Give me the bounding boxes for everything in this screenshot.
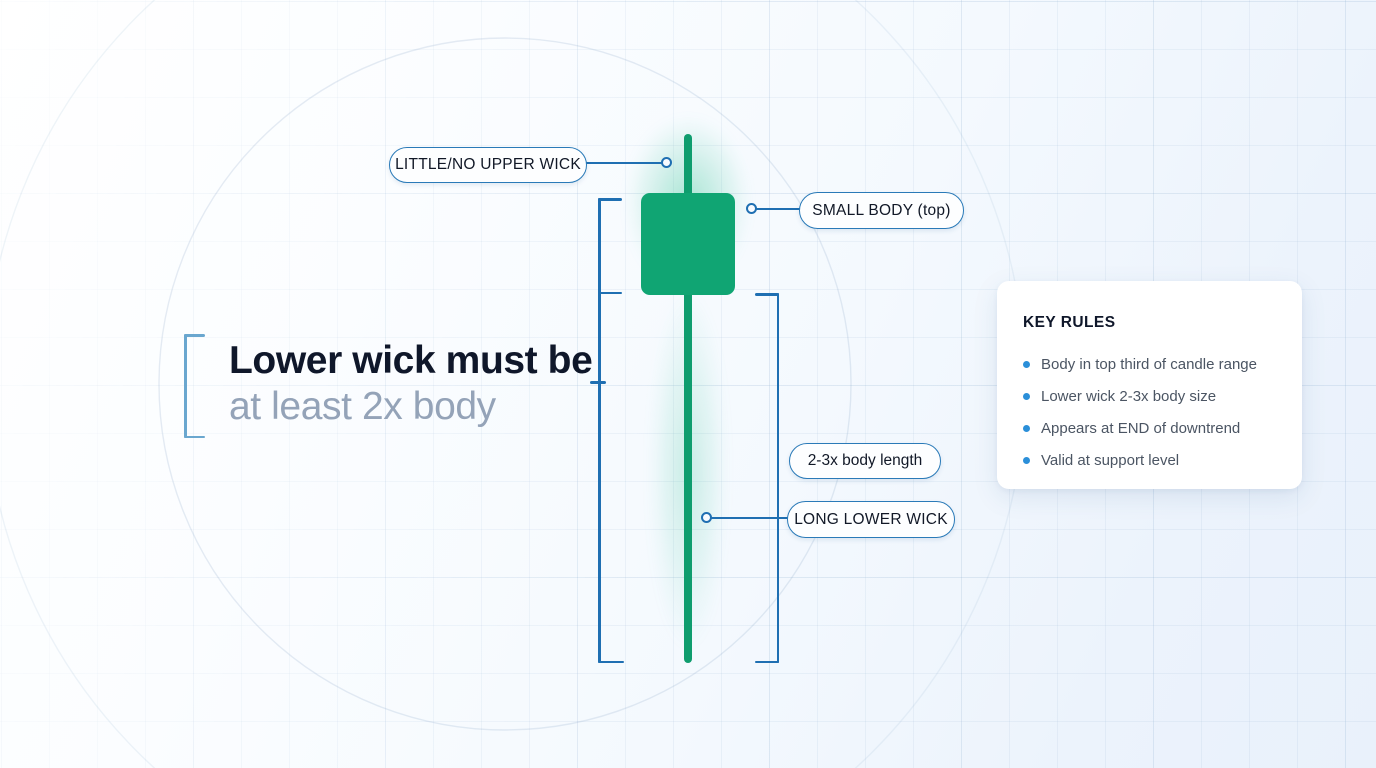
annotation-lower-wick[interactable]: LONG LOWER WICK — [787, 501, 955, 538]
key-rules-item-label: Lower wick 2-3x body size — [1041, 388, 1216, 405]
headline: Lower wick must be at least 2x body — [229, 338, 649, 430]
key-rules-item-label: Appears at END of downtrend — [1041, 420, 1240, 437]
lower-wick-measure-bracket — [753, 293, 779, 663]
annotation-upper-wick-label: LITTLE/NO UPPER WICK — [395, 156, 581, 174]
leader-dot-small-body — [746, 203, 757, 214]
bracket-stem — [777, 293, 780, 663]
leader-line-lower-wick — [711, 517, 789, 519]
annotation-small-body[interactable]: SMALL BODY (top) — [799, 192, 964, 229]
annotation-lower-wick-label: LONG LOWER WICK — [794, 511, 948, 529]
leader-line-small-body — [753, 208, 801, 210]
infographic-canvas: LITTLE/NO UPPER WICK SMALL BODY (top) 2-… — [0, 0, 1376, 768]
annotation-small-body-label: SMALL BODY (top) — [812, 202, 950, 220]
headline-line-2: at least 2x body — [229, 384, 649, 430]
bullet-icon — [1023, 457, 1030, 464]
key-rules-item: Lower wick 2-3x body size — [1023, 380, 1276, 412]
key-rules-item: Body in top third of candle range — [1023, 348, 1276, 380]
bracket-arm-top — [184, 334, 205, 337]
bracket-arm-bottom — [598, 661, 624, 664]
key-rules-card: KEY RULES Body in top third of candle ra… — [997, 281, 1302, 489]
key-rules-item-label: Body in top third of candle range — [1041, 356, 1257, 373]
bullet-icon — [1023, 393, 1030, 400]
key-rules-item: Valid at support level — [1023, 444, 1276, 476]
bracket-arm-top — [755, 293, 779, 296]
bracket-stem — [184, 334, 187, 438]
annotation-body-length[interactable]: 2-3x body length — [789, 443, 941, 479]
candle-body — [641, 193, 735, 295]
bullet-icon — [1023, 361, 1030, 368]
key-rules-list: Body in top third of candle range Lower … — [1023, 348, 1276, 476]
leader-dot-upper-wick — [661, 157, 672, 168]
bullet-icon — [1023, 425, 1030, 432]
headline-line-1: Lower wick must be — [229, 338, 649, 384]
annotation-body-length-label: 2-3x body length — [808, 452, 923, 470]
key-rules-item: Appears at END of downtrend — [1023, 412, 1276, 444]
leader-dot-lower-wick — [701, 512, 712, 523]
key-rules-title: KEY RULES — [1023, 314, 1276, 332]
leader-line-upper-wick — [583, 162, 667, 164]
headline-bracket — [184, 334, 206, 438]
annotation-upper-wick[interactable]: LITTLE/NO UPPER WICK — [389, 147, 587, 183]
bracket-arm-bottom — [755, 661, 779, 664]
bracket-arm-bottom — [184, 436, 205, 439]
key-rules-item-label: Valid at support level — [1041, 452, 1179, 469]
